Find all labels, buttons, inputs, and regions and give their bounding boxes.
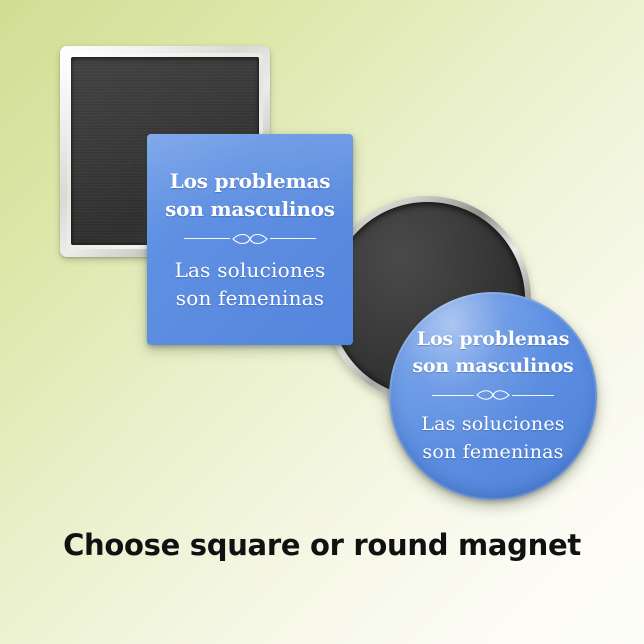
- round-magnet-artwork[interactable]: Los problemas son masculinos Las solucio…: [389, 292, 597, 500]
- artwork-line-4: son femeninas: [422, 439, 563, 467]
- product-image-canvas: Los problemas son masculinos Las solucio…: [0, 0, 644, 644]
- bowtie-flourish-icon: [476, 389, 510, 401]
- artwork-line-1: Los problemas: [417, 326, 569, 354]
- artwork-line-2: son masculinos: [165, 195, 335, 223]
- divider-rule-left: [432, 395, 474, 396]
- artwork-line-3: Las soluciones: [175, 256, 326, 284]
- divider-rule-left: [184, 238, 230, 239]
- artwork-line-4: son femeninas: [176, 284, 325, 312]
- artwork-divider: [184, 233, 316, 245]
- artwork-divider: [432, 389, 554, 401]
- square-magnet-artwork[interactable]: Los problemas son masculinos Las solucio…: [147, 134, 353, 345]
- artwork-line-2: son masculinos: [412, 353, 573, 381]
- round-artwork-text-block: Los problemas son masculinos Las solucio…: [389, 292, 597, 500]
- square-artwork-text-block: Los problemas son masculinos Las solucio…: [147, 134, 353, 345]
- divider-rule-right: [270, 238, 316, 239]
- artwork-line-1: Los problemas: [170, 167, 331, 195]
- artwork-line-3: Las soluciones: [421, 411, 564, 439]
- product-caption: Choose square or round magnet: [0, 528, 644, 562]
- bowtie-flourish-icon: [232, 233, 268, 245]
- divider-rule-right: [512, 395, 554, 396]
